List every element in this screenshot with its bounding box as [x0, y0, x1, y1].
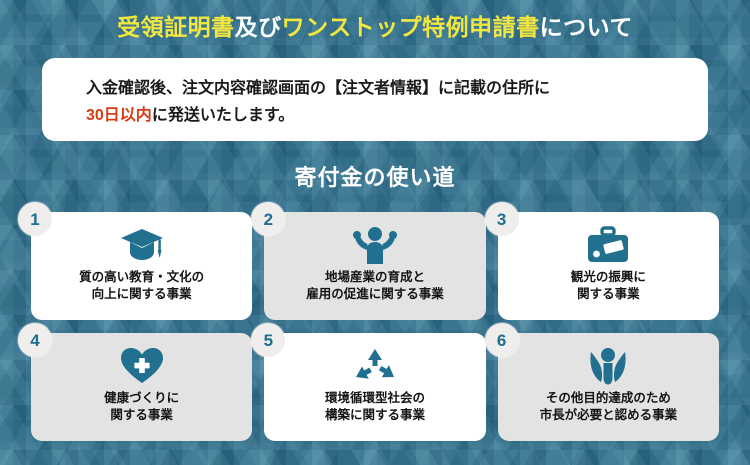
- use-card-1-label-line-1: 質の高い教育・文化の: [79, 269, 204, 286]
- recycle-icon: [353, 345, 397, 387]
- section-heading: 寄付金の使い道: [0, 160, 750, 192]
- use-card-4-label-line-1: 健康づくりに: [104, 390, 179, 407]
- use-card-3[interactable]: 3 観光の振興に 関する事業: [498, 212, 719, 320]
- suitcase-icon: [585, 224, 631, 266]
- use-of-donation-grid: 1 質の高い教育・文化の 向上に関する事業 2: [31, 212, 719, 441]
- title-segment-3: ワンストップ特例申請書: [282, 14, 540, 40]
- title-segment-2: 及び: [235, 14, 282, 40]
- page-title: 受領証明書及びワンストップ特例申請書について: [0, 12, 750, 42]
- notice-line-1: 入金確認後、注文内容確認画面の【注文者情報】に記載の住所に: [86, 75, 688, 102]
- use-card-3-label-line-2: 関する事業: [577, 286, 640, 303]
- notice-emphasis-deadline: 30日以内: [86, 107, 152, 124]
- heart-plus-icon: [120, 345, 164, 387]
- number-badge-1: 1: [18, 202, 52, 236]
- use-card-6-label-line-2: 市長が必要と認める事業: [540, 407, 678, 424]
- number-badge-5: 5: [251, 323, 285, 357]
- use-card-1[interactable]: 1 質の高い教育・文化の 向上に関する事業: [31, 212, 252, 320]
- use-card-5[interactable]: 5 環境循環型社会の 構築に関する事業: [264, 333, 485, 441]
- person-raising-arms-icon: [352, 224, 398, 266]
- notice-line-2: 30日以内に発送いたします。: [86, 102, 688, 129]
- number-badge-6: 6: [485, 323, 519, 357]
- use-card-5-label-line-1: 環境循環型社会の: [325, 390, 425, 407]
- number-badge-3: 3: [485, 202, 519, 236]
- notice-text-block: 入金確認後、注文内容確認画面の【注文者情報】に記載の住所に 30日以内に発送いた…: [86, 75, 688, 129]
- use-card-6[interactable]: 6 その他目的達成のため 市長が必要と認める事業: [498, 333, 719, 441]
- graduation-cap-icon: [120, 224, 164, 266]
- use-card-4[interactable]: 4 健康づくりに 関する事業: [31, 333, 252, 441]
- person-open-arms-icon: [587, 345, 629, 387]
- use-card-4-label-line-2: 関する事業: [110, 407, 173, 424]
- use-card-2[interactable]: 2 地場産業の育成と 雇用の促進に関する事業: [264, 212, 485, 320]
- use-card-6-label-line-1: その他目的達成のため: [546, 390, 671, 407]
- title-segment-1: 受領証明書: [117, 14, 235, 40]
- use-card-3-label-line-1: 観光の振興に: [571, 269, 646, 286]
- use-card-2-label-line-2: 雇用の促進に関する事業: [306, 286, 444, 303]
- notice-card: 入金確認後、注文内容確認画面の【注文者情報】に記載の住所に 30日以内に発送いた…: [42, 58, 708, 141]
- notice-line-2-rest: に発送いたします。: [152, 107, 294, 124]
- number-badge-4: 4: [18, 323, 52, 357]
- poster-root: 受領証明書及びワンストップ特例申請書について 入金確認後、注文内容確認画面の【注…: [0, 0, 750, 465]
- use-card-5-label-line-2: 構築に関する事業: [325, 407, 425, 424]
- use-card-2-label-line-1: 地場産業の育成と: [325, 269, 425, 286]
- use-card-1-label-line-2: 向上に関する事業: [92, 286, 192, 303]
- title-segment-4: について: [540, 14, 633, 40]
- number-badge-2: 2: [251, 202, 285, 236]
